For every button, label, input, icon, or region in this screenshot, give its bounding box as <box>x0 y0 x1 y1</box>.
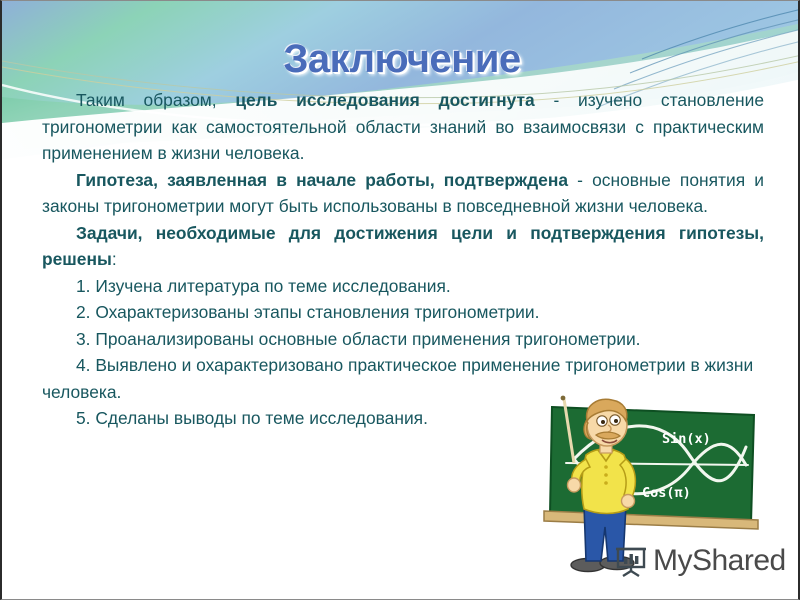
slide-body: Таким образом, цель исследования достигн… <box>42 87 764 432</box>
teacher-moustache <box>596 432 620 439</box>
slide-title: Заключение <box>2 37 800 82</box>
teacher-left-hand <box>568 478 581 492</box>
p3-run-2: : <box>112 249 117 269</box>
teacher-button <box>604 473 608 477</box>
paragraph-3: Задачи, необходимые для достижения цели … <box>42 220 764 273</box>
teacher-right-hand <box>622 495 635 508</box>
list-item: 3. Проанализированы основные области при… <box>42 326 764 353</box>
watermark-label: MyShared <box>653 544 786 578</box>
paragraph-1: Таким образом, цель исследования достигн… <box>42 87 764 167</box>
p1-run-1: Таким образом, <box>76 90 235 110</box>
myshared-watermark: MyShared <box>614 544 786 578</box>
teacher-button <box>604 465 608 469</box>
list-item: 1. Изучена литература по теме исследован… <box>42 273 764 300</box>
presentation-board-icon <box>614 544 648 578</box>
cosine-label: Cos(π) <box>642 485 691 501</box>
list-item: 5. Сделаны выводы по теме исследования. <box>42 405 764 432</box>
p2-run-1: Гипотеза, заявленная в начале работы, по… <box>76 170 568 190</box>
teacher-button <box>604 481 608 485</box>
sine-label: Sin(x) <box>662 431 711 447</box>
p1-run-2: цель исследования достигнута <box>235 90 534 110</box>
list-item: 2. Охарактеризованы этапы становления тр… <box>42 299 764 326</box>
p3-run-1: Задачи, необходимые для достижения цели … <box>42 223 764 270</box>
list-item: 4. Выявлено и охарактеризовано практичес… <box>42 352 764 405</box>
paragraph-2: Гипотеза, заявленная в начале работы, по… <box>42 167 764 220</box>
presentation-slide: Заключение Таким образом, цель исследова… <box>0 0 800 600</box>
